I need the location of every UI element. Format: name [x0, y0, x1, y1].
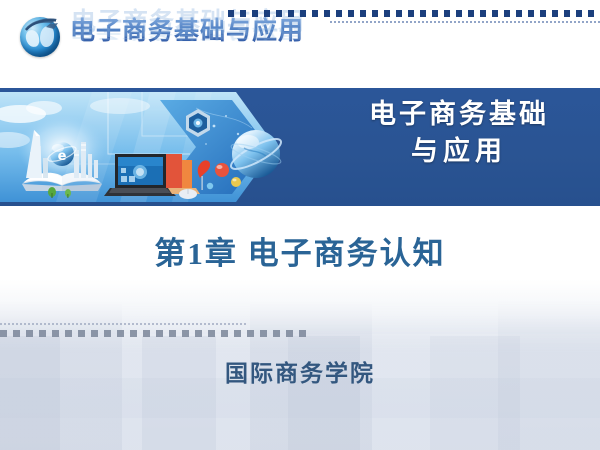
square-dot-strip-gray-icon [0, 330, 311, 337]
page-title: 第1章 电子商务认知 [0, 232, 600, 276]
brand-logo-text-reflection: 电子商务基础与应用 [70, 26, 304, 41]
brand-logo: 电子商务基础与应用 电子商务基础与应用 电子商务基础与应用 [18, 12, 300, 60]
course-banner: e [0, 88, 600, 206]
slide-header: 电子商务基础与应用 电子商务基础与应用 电子商务基础与应用 [0, 0, 600, 88]
banner-title-line1: 电子商务基础 [334, 96, 584, 133]
fine-dot-strip-gray-icon [0, 323, 248, 325]
brand-logo-text-group: 电子商务基础与应用 电子商务基础与应用 电子商务基础与应用 [70, 13, 300, 59]
globe-icon [18, 13, 64, 59]
presentation-slide: 电子商务基础与应用 电子商务基础与应用 电子商务基础与应用 [0, 0, 600, 450]
page-subtitle: 国际商务学院 [0, 358, 600, 390]
banner-title: 电子商务基础 与应用 [334, 96, 584, 170]
svg-text:e: e [58, 149, 67, 164]
slide-background-blocks-secondary [0, 336, 600, 450]
banner-title-line2: 与应用 [334, 133, 584, 170]
ecommerce-collage-illustration: e [0, 92, 308, 202]
fine-dot-strip-icon [330, 21, 600, 23]
square-dot-strip-icon [228, 10, 600, 17]
arrow-swoosh-icon [24, 17, 60, 33]
